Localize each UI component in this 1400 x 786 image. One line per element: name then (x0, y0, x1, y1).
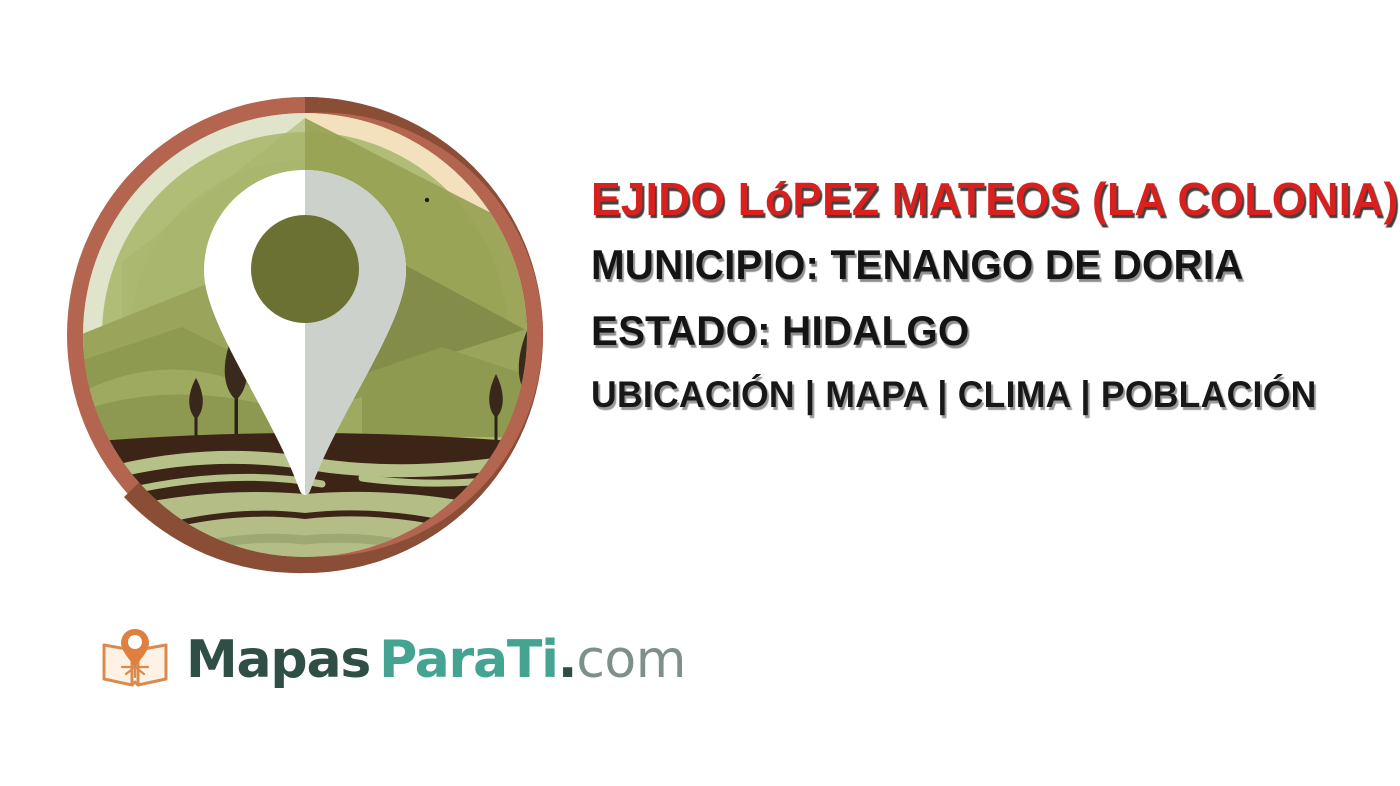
brand-word-parati: ParaTi (379, 634, 558, 686)
brand-word-dot: . (558, 634, 577, 686)
emblem-artwork (62, 92, 548, 578)
map-pin-hole (251, 215, 359, 323)
brand-word-com: com (576, 634, 686, 686)
estado-label: ESTADO: HIDALGO (591, 310, 1388, 352)
brand-word-mapas: Mapas (186, 634, 370, 686)
section-nav-line[interactable]: UBICACIÓN | MAPA | CLIMA | POBLACIÓN (591, 376, 1388, 413)
page-title: EJIDO LóPEZ MATEOS (LA COLONIA) (591, 176, 1392, 222)
brand-logo[interactable]: MapasParaTi.com (98, 614, 568, 706)
page-root: MapasParaTi.com EJIDO LóPEZ MATEOS (LA C… (0, 0, 1400, 786)
scene-speck (425, 198, 429, 202)
brand-wordmark: MapasParaTi.com (186, 634, 686, 686)
info-text-block: EJIDO LóPEZ MATEOS (LA COLONIA) MUNICIPI… (591, 176, 1400, 413)
municipio-label: MUNICIPIO: TENANGO DE DORIA (591, 244, 1388, 286)
open-book-with-map-pin-icon (98, 623, 172, 697)
location-badge-emblem (62, 92, 548, 578)
